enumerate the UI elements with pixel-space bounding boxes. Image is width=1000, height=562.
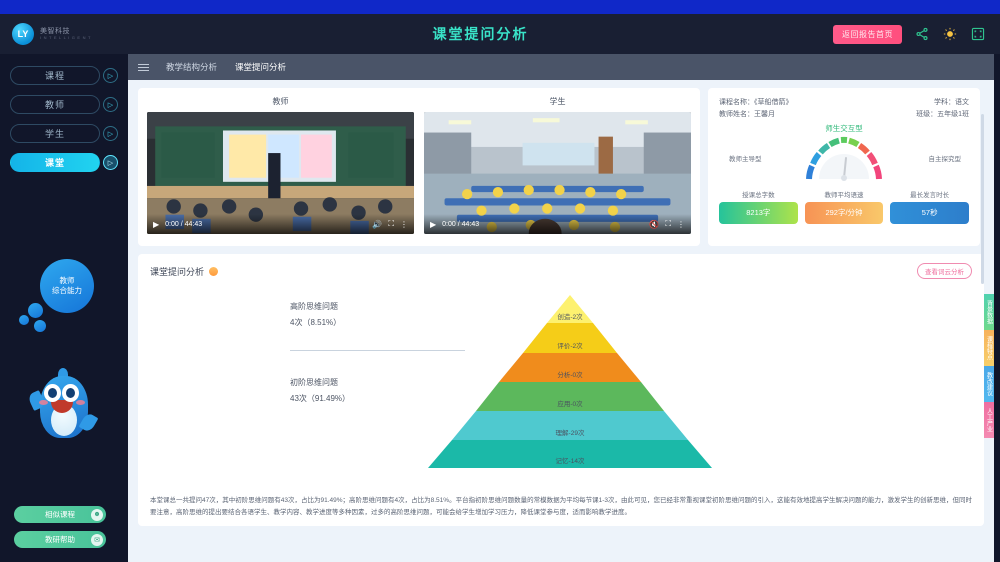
questioning-analysis-card: 课堂提问分析 查看词云分析 高阶思维问题 4次（8.51%） 初阶思维问题 <box>138 254 984 526</box>
fullscreen-icon[interactable]: ⛶ <box>388 219 394 229</box>
share-icon[interactable] <box>914 26 930 42</box>
analysis-header: 课堂提问分析 查看词云分析 <box>150 263 972 279</box>
pyramid-layer-create-label: 创造-2次 <box>557 311 582 321</box>
sidebar-nav: 课程 ▷ 教师 ▷ 学生 ▷ 课堂 ▷ <box>0 54 128 172</box>
pyramid-layer-understand: 理解-29次 <box>556 427 585 437</box>
top-row: 教师 <box>138 88 984 246</box>
play-icon[interactable]: ▶ <box>153 220 159 229</box>
analysis-title: 课堂提问分析 <box>150 265 204 278</box>
stat-longest-speech-value: 57秒 <box>890 202 969 224</box>
stat-speech-rate-value: 292字/分钟 <box>805 202 884 224</box>
content-scrollbar[interactable] <box>981 114 984 284</box>
panels: 教师 <box>128 80 994 534</box>
vtab-teaching-advice[interactable]: 教改建议 <box>984 366 994 402</box>
course-info-card: 课程名称：《草船借箭》 教师姓名：王馨月 学科：语文 班级：五年级1班 师生交互… <box>708 88 980 246</box>
volume-icon[interactable]: 🔇 <box>649 220 659 229</box>
video-student-player[interactable]: ▶ 0:00 / 44:43 🔇 ⛶ ⋮ <box>424 112 691 234</box>
video-student: 学生 <box>424 96 691 238</box>
stat-total-words-label: 授课总字数 <box>719 189 798 199</box>
gauge-left-label: 教师主导型 <box>729 153 762 163</box>
video-teacher-player[interactable]: ▶ 0:00 / 44:43 🔊 ⛶ ⋮ <box>147 112 414 234</box>
gauge-right-label: 自主探究型 <box>929 153 962 163</box>
vtab-course-features[interactable]: 课程特点 <box>984 330 994 366</box>
video-student-controls[interactable]: ▶ 0:00 / 44:43 🔇 ⛶ ⋮ <box>424 214 691 234</box>
video-teacher-controls[interactable]: ▶ 0:00 / 44:43 🔊 ⛶ ⋮ <box>147 214 414 234</box>
stat-total-words-value: 8213字 <box>719 202 798 224</box>
pyramid-layer-create: 创造-2次 <box>557 311 582 321</box>
sidebar-item-teacher-label[interactable]: 教师 <box>10 95 100 114</box>
interaction-gauge: 师生交互型 <box>719 123 969 187</box>
vtab-background-data[interactable]: 背景数据 <box>984 294 994 330</box>
decor-bubble-small <box>28 303 43 318</box>
bubble-line-1: 教师 <box>60 276 75 286</box>
mascot-pupil-right <box>66 388 75 398</box>
volume-icon[interactable]: 🔊 <box>372 220 382 229</box>
analysis-summary-text: 本堂课总一共提问47次，其中初阶思维问题有43次，占比为91.49%；高阶思维问… <box>150 495 972 518</box>
brand-subtitle: I N T E L L I G E N T <box>40 36 91 40</box>
mascot-pupil-left <box>48 388 57 398</box>
stat-total-words: 授课总字数 8213字 <box>719 189 798 224</box>
video-student-time: 0:00 / 44:43 <box>442 221 479 228</box>
stat-speech-rate-label: 教师平均语速 <box>805 189 884 199</box>
class-label: 班级： <box>916 111 937 118</box>
sidebar-item-student[interactable]: 学生 ▷ <box>10 124 118 143</box>
tab-bar: 教学结构分析 课堂提问分析 <box>128 54 994 80</box>
pyramid-layer-evaluate: 评价-2次 <box>557 340 582 350</box>
top-accent-strip <box>0 0 1000 14</box>
gauge-dial <box>801 135 887 181</box>
mascot-avatar <box>26 354 102 450</box>
video-teacher-label: 教师 <box>273 96 289 107</box>
gauge-title: 师生交互型 <box>719 123 969 134</box>
video-teacher: 教师 <box>147 96 414 238</box>
back-to-report-home-button[interactable]: 返回报告首页 <box>833 25 902 44</box>
sidebar-item-teacher[interactable]: 教师 ▷ <box>10 95 118 114</box>
sidebar-item-student-label[interactable]: 学生 <box>10 124 100 143</box>
pyramid-layer-understand-label: 理解-29次 <box>556 427 585 437</box>
user-icon: ☻ <box>91 509 103 521</box>
play-icon[interactable]: ▶ <box>430 220 436 229</box>
pyramid-chart-area: 高阶思维问题 4次（8.51%） 初阶思维问题 43次（91.49%） <box>150 285 972 485</box>
video-teacher-time: 0:00 / 44:43 <box>165 221 202 228</box>
hamburger-icon[interactable] <box>138 64 149 71</box>
similar-course-label: 相似课程 <box>45 509 75 520</box>
mascot-cheek-right <box>76 400 85 405</box>
course-name-value: 《草船借箭》 <box>754 99 793 106</box>
sidebar: 课程 ▷ 教师 ▷ 学生 ▷ 课堂 ▷ 教师 综合能力 <box>0 54 128 562</box>
research-help-label: 教研帮助 <box>45 534 75 545</box>
sidebar-item-classroom[interactable]: 课堂 ▷ <box>10 153 118 172</box>
chevron-right-icon[interactable]: ▷ <box>103 97 118 112</box>
pyramid-layer-analyze-label: 分析-0次 <box>557 369 582 379</box>
chevron-right-icon[interactable]: ▷ <box>103 155 118 170</box>
tab-teaching-structure[interactable]: 教学结构分析 <box>165 59 218 75</box>
header-actions: 返回报告首页 <box>833 25 1000 44</box>
mascot-cheek-left <box>39 400 48 405</box>
content-area: 教学结构分析 课堂提问分析 教师 <box>128 54 994 562</box>
research-help-button[interactable]: 教研帮助 ✉ <box>14 531 106 548</box>
chevron-right-icon[interactable]: ▷ <box>103 126 118 141</box>
sidebar-item-course-label[interactable]: 课程 <box>10 66 100 85</box>
pyramid-layer-remember-label: 记忆-14次 <box>556 455 585 465</box>
side-vertical-tabs: 背景数据 课程特点 教改建议 人工产业 <box>984 294 994 438</box>
stat-speech-rate: 教师平均语速 292字/分钟 <box>805 189 884 224</box>
course-name-label: 课程名称： <box>719 99 754 106</box>
sidebar-item-course[interactable]: 课程 ▷ <box>10 66 118 85</box>
pyramid-layer-remember: 记忆-14次 <box>556 455 585 465</box>
videos-card: 教师 <box>138 88 700 246</box>
vtab-ai-industry[interactable]: 人工产业 <box>984 402 994 438</box>
sidebar-item-classroom-label[interactable]: 课堂 <box>10 153 100 172</box>
pyramid-layer-analyze: 分析-0次 <box>557 369 582 379</box>
chat-icon: ✉ <box>91 534 103 546</box>
course-meta: 课程名称：《草船借箭》 教师姓名：王馨月 学科：语文 班级：五年级1班 <box>719 97 969 121</box>
pyramid-layer-apply-label: 应用-0次 <box>557 398 582 408</box>
app-root: LY 美智科技 I N T E L L I G E N T 课堂提问分析 返回报… <box>0 0 1000 562</box>
logo-icon: LY <box>12 23 34 45</box>
view-wordcloud-button[interactable]: 查看词云分析 <box>917 263 972 279</box>
class-value: 五年级1班 <box>937 111 969 118</box>
teacher-name-label: 教师姓名： <box>719 111 754 118</box>
decor-bubble-mid <box>34 320 46 332</box>
teacher-ability-bubble-group: 教师 综合能力 <box>18 259 118 339</box>
more-options-icon[interactable]: ⋮ <box>400 220 408 229</box>
subject-label: 学科： <box>934 99 955 106</box>
fullscreen-icon[interactable]: ⛶ <box>665 219 671 229</box>
teacher-ability-button[interactable]: 教师 综合能力 <box>40 259 94 313</box>
chevron-right-icon[interactable]: ▷ <box>103 68 118 83</box>
video-student-label: 学生 <box>550 96 566 107</box>
stat-group: 授课总字数 8213字 教师平均语速 292字/分钟 最长发言时长 57秒 <box>719 189 969 224</box>
sidebar-bottom-buttons: 相似课程 ☻ 教研帮助 ✉ <box>14 506 106 548</box>
more-options-icon[interactable]: ⋮ <box>677 220 685 229</box>
subject-value: 语文 <box>955 99 969 106</box>
pyramid-shape <box>405 295 735 470</box>
fullscreen-icon[interactable] <box>970 26 986 42</box>
sun-icon[interactable] <box>942 26 958 42</box>
stat-longest-speech: 最长发言时长 57秒 <box>890 189 969 224</box>
pyramid-layer-apply: 应用-0次 <box>557 398 582 408</box>
bloom-pyramid: 创造-2次 评价-2次 分析-0次 应用-0次 理解-29次 记忆-14次 <box>405 295 735 470</box>
decor-bubble-tiny <box>19 315 29 325</box>
similar-course-button[interactable]: 相似课程 ☻ <box>14 506 106 523</box>
teacher-name-value: 王馨月 <box>754 111 775 118</box>
tab-classroom-questioning[interactable]: 课堂提问分析 <box>234 59 287 75</box>
pyramid-layer-evaluate-label: 评价-2次 <box>557 340 582 350</box>
page-title: 课堂提问分析 <box>128 24 833 44</box>
stat-longest-speech-label: 最长发言时长 <box>890 189 969 199</box>
app-header: LY 美智科技 I N T E L L I G E N T 课堂提问分析 返回报… <box>0 14 1000 54</box>
brand-logo[interactable]: LY 美智科技 I N T E L L I G E N T <box>0 23 128 45</box>
bubble-line-2: 综合能力 <box>52 286 82 296</box>
status-badge <box>209 267 218 276</box>
